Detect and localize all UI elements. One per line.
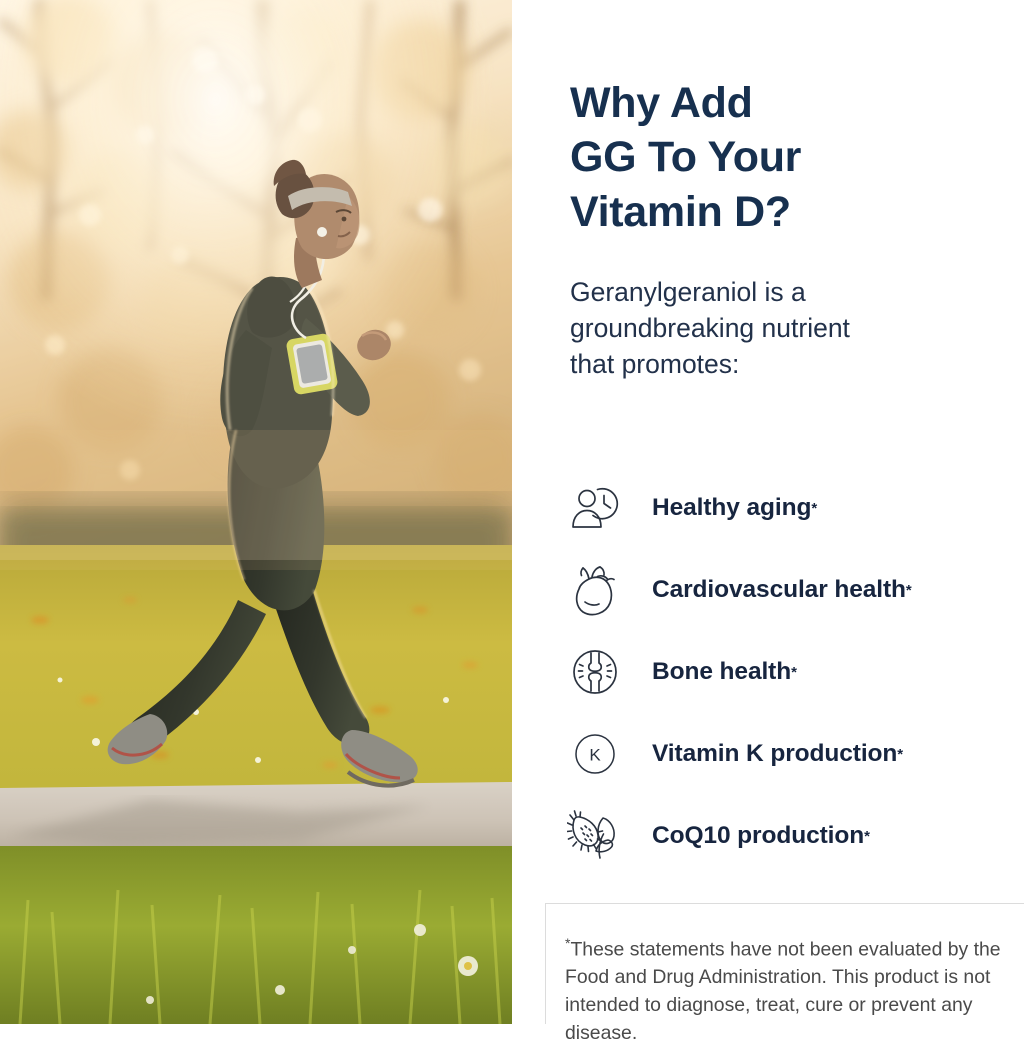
runner-photo-illustration [0,0,512,1024]
bone-joint-circle-icon [564,643,626,701]
list-item-label: Vitamin K production [652,740,897,768]
list-item: K Vitamin K production* [564,713,1014,795]
list-item: Cardiovascular health* [564,549,1014,631]
footnote-marker: * [906,582,912,599]
disclaimer-text: *These statements have not been evaluate… [565,934,1017,1047]
promo-graphic: Why Add GG To Your Vitamin D? Geranylger… [0,0,1024,1024]
list-item-label: Healthy aging [652,494,811,522]
hero-photo [0,0,512,1024]
footnote-marker: * [897,746,903,763]
list-item: CoQ10 production* [564,795,1014,877]
disclaimer-body: These statements have not been evaluated… [565,939,1001,1044]
footnote-marker: * [811,500,817,517]
vitamin-k-glyph: K [589,746,601,765]
list-item: Healthy aging* [564,467,1014,549]
vitamin-k-circle-icon: K [564,725,626,783]
benefits-list: Healthy aging* Cardiovascu [564,467,1014,877]
list-item-label: CoQ10 production [652,822,864,850]
footnote-marker: * [864,828,870,845]
page-title: Why Add GG To Your Vitamin D? [570,76,990,240]
disclaimer-box: *These statements have not been evaluate… [545,903,1024,1024]
anatomical-heart-icon [564,561,626,619]
page-subtitle: Geranylgeraniol is a groundbreaking nutr… [570,274,970,382]
list-item-label: Bone health [652,658,791,686]
list-item: Bone health* [564,631,1014,713]
list-item-label: Cardiovascular health [652,576,906,604]
content-panel: Why Add GG To Your Vitamin D? Geranylger… [512,0,1024,1024]
footnote-marker: * [791,664,797,681]
person-clock-icon [564,479,626,537]
wheat-leaf-icon [564,807,626,865]
